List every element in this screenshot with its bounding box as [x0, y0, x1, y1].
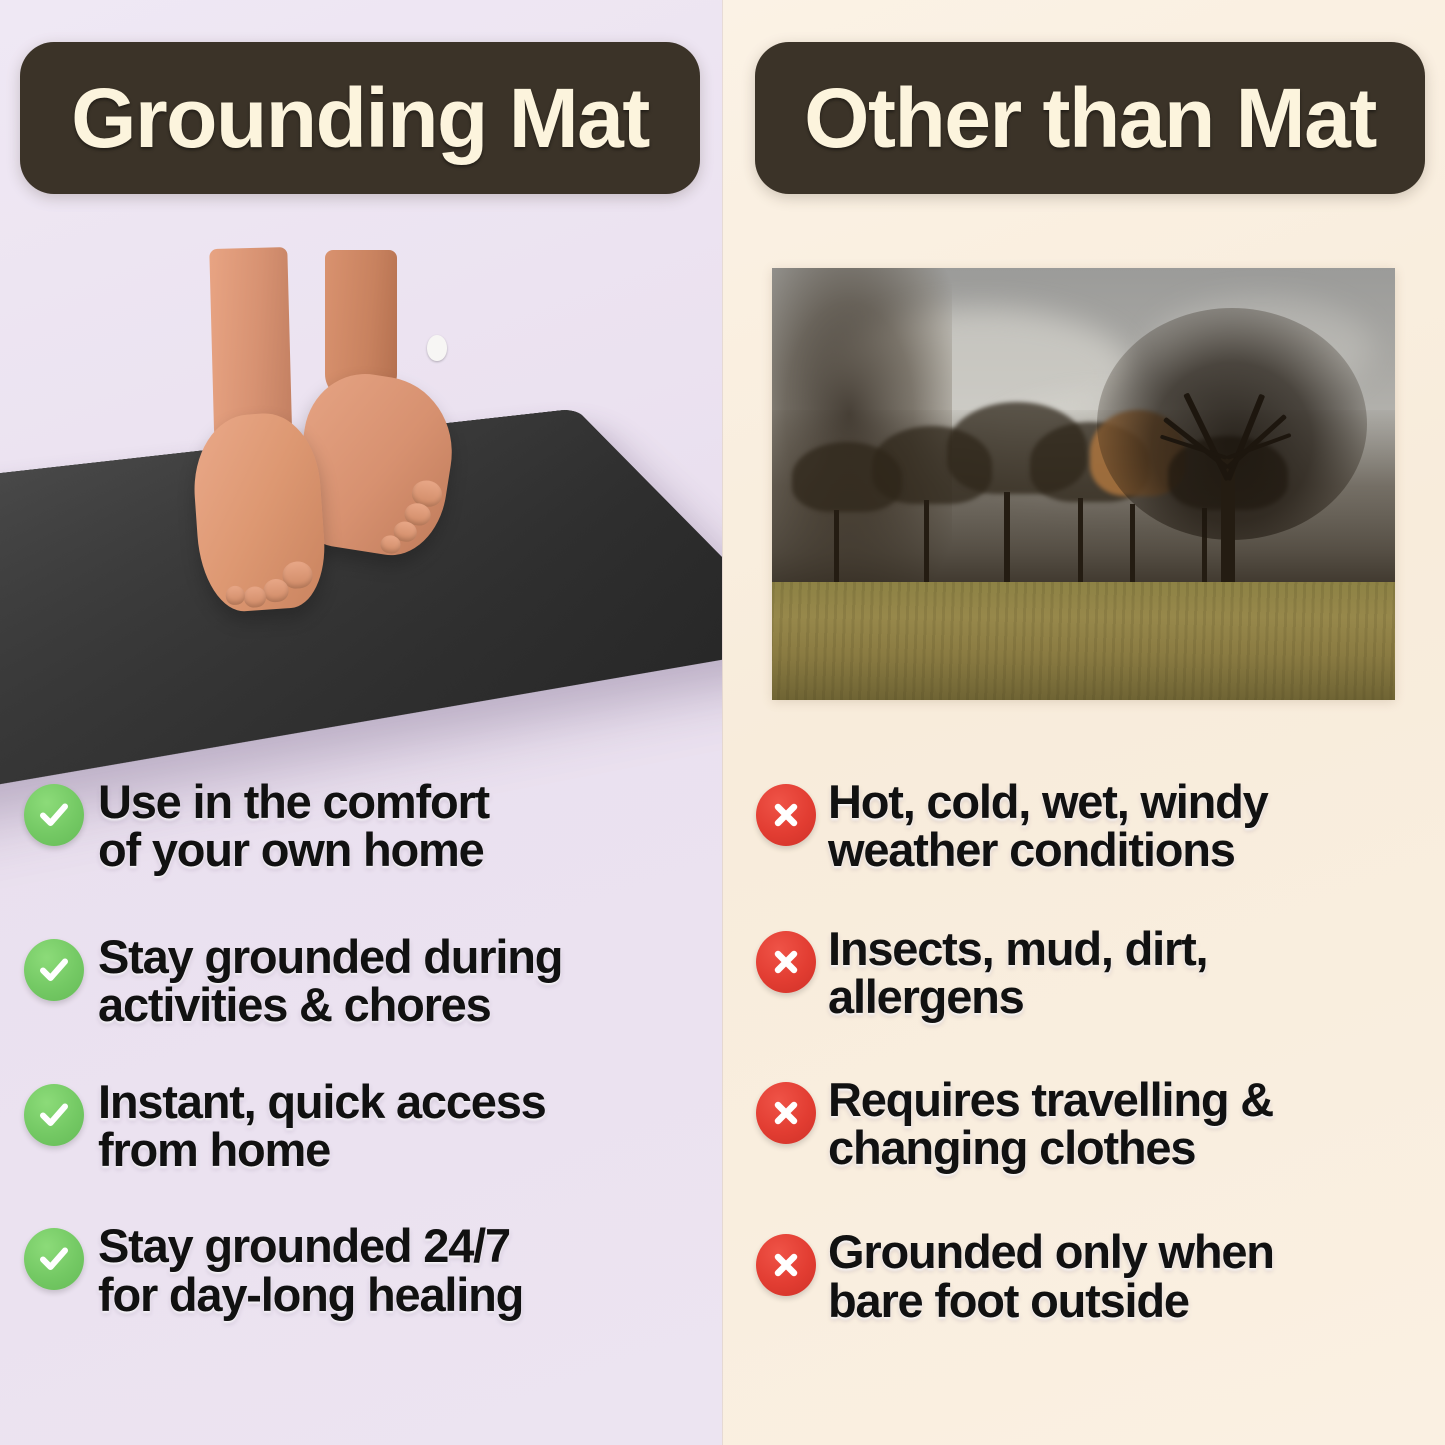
list-item-text: Insects, mud, dirt, allergens: [828, 925, 1207, 1022]
cross-icon: [756, 1082, 816, 1144]
list-item-line-1: Stay grounded during: [98, 930, 562, 983]
list-item: Grounded only when bare foot outside: [722, 1228, 1445, 1325]
right-column-other-than-mat: Other than Mat: [722, 0, 1445, 1445]
list-item: Hot, cold, wet, windy weather conditions: [722, 778, 1445, 875]
list-item-text: Grounded only when bare foot outside: [828, 1228, 1274, 1325]
mat-snap-connector-icon: [427, 335, 447, 361]
grounding-mat-image: [0, 236, 722, 756]
left-header-title: Grounding Mat: [71, 70, 649, 167]
check-icon: [24, 784, 84, 846]
dry-grass-field: [772, 582, 1395, 700]
right-header-title: Other than Mat: [804, 70, 1376, 167]
outdoor-winter-field-photo: [772, 268, 1395, 700]
list-item: Stay grounded during activities & chores: [0, 933, 722, 1030]
left-column-grounding-mat: Grounding Mat: [0, 0, 722, 1445]
list-item-line-1: Use in the comfort: [98, 775, 489, 828]
list-item-text: Stay grounded during activities & chores: [98, 933, 562, 1030]
list-item: Stay grounded 24/7 for day-long healing: [0, 1222, 722, 1319]
left-benefit-list: Use in the comfort of your own home Stay…: [0, 778, 722, 1319]
list-item-text: Instant, quick access from home: [98, 1078, 546, 1175]
comparison-infographic: Grounding Mat: [0, 0, 1445, 1445]
list-item: Insects, mud, dirt, allergens: [722, 925, 1445, 1022]
cross-icon: [756, 784, 816, 846]
list-item: Requires travelling & changing clothes: [722, 1076, 1445, 1173]
list-item-line-1: Hot, cold, wet, windy: [828, 775, 1268, 828]
cross-icon: [756, 931, 816, 993]
list-item-line-1: Grounded only when: [828, 1225, 1274, 1278]
large-foreground-bare-tree: [1097, 308, 1367, 608]
list-item-line-2: of your own home: [98, 826, 489, 874]
list-item-line-2: from home: [98, 1126, 546, 1174]
list-item-line-2: weather conditions: [828, 826, 1268, 874]
left-header-pill: Grounding Mat: [20, 42, 700, 194]
list-item-line-2: allergens: [828, 973, 1207, 1021]
list-item-line-2: for day-long healing: [98, 1271, 523, 1319]
list-item-line-2: activities & chores: [98, 981, 562, 1029]
list-item-line-1: Instant, quick access: [98, 1075, 546, 1128]
list-item-text: Requires travelling & changing clothes: [828, 1076, 1273, 1173]
list-item-text: Use in the comfort of your own home: [98, 778, 489, 875]
list-item: Use in the comfort of your own home: [0, 778, 722, 875]
check-icon: [24, 1228, 84, 1290]
list-item-text: Hot, cold, wet, windy weather conditions: [828, 778, 1268, 875]
right-drawback-list: Hot, cold, wet, windy weather conditions…: [722, 778, 1445, 1325]
column-divider: [722, 0, 723, 1445]
right-header-pill: Other than Mat: [755, 42, 1425, 194]
list-item-line-1: Stay grounded 24/7: [98, 1219, 510, 1272]
list-item: Instant, quick access from home: [0, 1078, 722, 1175]
list-item-line-1: Insects, mud, dirt,: [828, 922, 1207, 975]
list-item-line-1: Requires travelling &: [828, 1073, 1273, 1126]
check-icon: [24, 939, 84, 1001]
check-icon: [24, 1084, 84, 1146]
list-item-line-2: bare foot outside: [828, 1277, 1274, 1325]
list-item-line-2: changing clothes: [828, 1124, 1273, 1172]
cross-icon: [756, 1234, 816, 1296]
list-item-text: Stay grounded 24/7 for day-long healing: [98, 1222, 523, 1319]
